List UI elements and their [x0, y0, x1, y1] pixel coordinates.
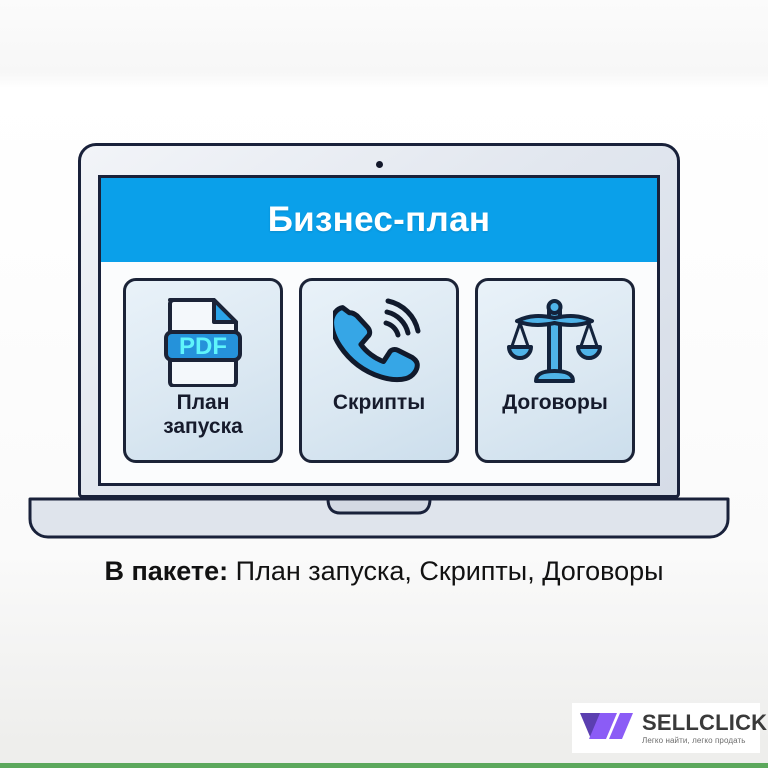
feature-card-label: Договоры: [498, 391, 612, 415]
sellclick-logo[interactable]: SELLCLICK Легко найти, легко продать: [572, 703, 760, 753]
laptop-screen: Бизнес-план PDF Планзап: [98, 175, 660, 486]
sellclick-tagline: Легко найти, легко продать: [642, 737, 767, 745]
feature-card-list: PDF Планзапуска: [101, 262, 657, 463]
laptop-illustration: Бизнес-план PDF Планзап: [0, 0, 768, 768]
justice-scales-icon: [507, 293, 603, 389]
sellclick-brand-name: SELLCLICK: [642, 712, 767, 734]
webcam-dot-icon: [376, 161, 383, 168]
pdf-document-icon: PDF: [164, 293, 242, 389]
phone-call-icon: [333, 293, 425, 389]
poster-canvas: Бизнес-план PDF Планзап: [0, 0, 768, 768]
card-label-line1: План: [177, 391, 230, 414]
feature-card-label: Планзапуска: [159, 391, 247, 438]
sellclick-mark-icon: [580, 711, 635, 746]
screen-title: Бизнес-план: [268, 200, 491, 240]
screen-header-bar: Бизнес-план: [101, 178, 657, 262]
caption-rest: План запуска, Скрипты, Договоры: [228, 556, 663, 586]
card-label-line2: запуска: [163, 415, 243, 438]
feature-card-scripts[interactable]: Скрипты: [299, 278, 459, 463]
feature-card-plan[interactable]: PDF Планзапуска: [123, 278, 283, 463]
laptop-base: [28, 497, 730, 539]
sellclick-logo-text: SELLCLICK Легко найти, легко продать: [642, 712, 767, 745]
feature-card-contracts[interactable]: Договоры: [475, 278, 635, 463]
laptop-lid: Бизнес-план PDF Планзап: [78, 143, 680, 498]
bottom-accent-strip: [0, 763, 768, 768]
svg-text:PDF: PDF: [179, 333, 227, 360]
feature-card-label: Скрипты: [329, 391, 429, 415]
caption-bold-prefix: В пакете:: [104, 556, 228, 586]
caption: В пакете: План запуска, Скрипты, Договор…: [0, 556, 768, 587]
